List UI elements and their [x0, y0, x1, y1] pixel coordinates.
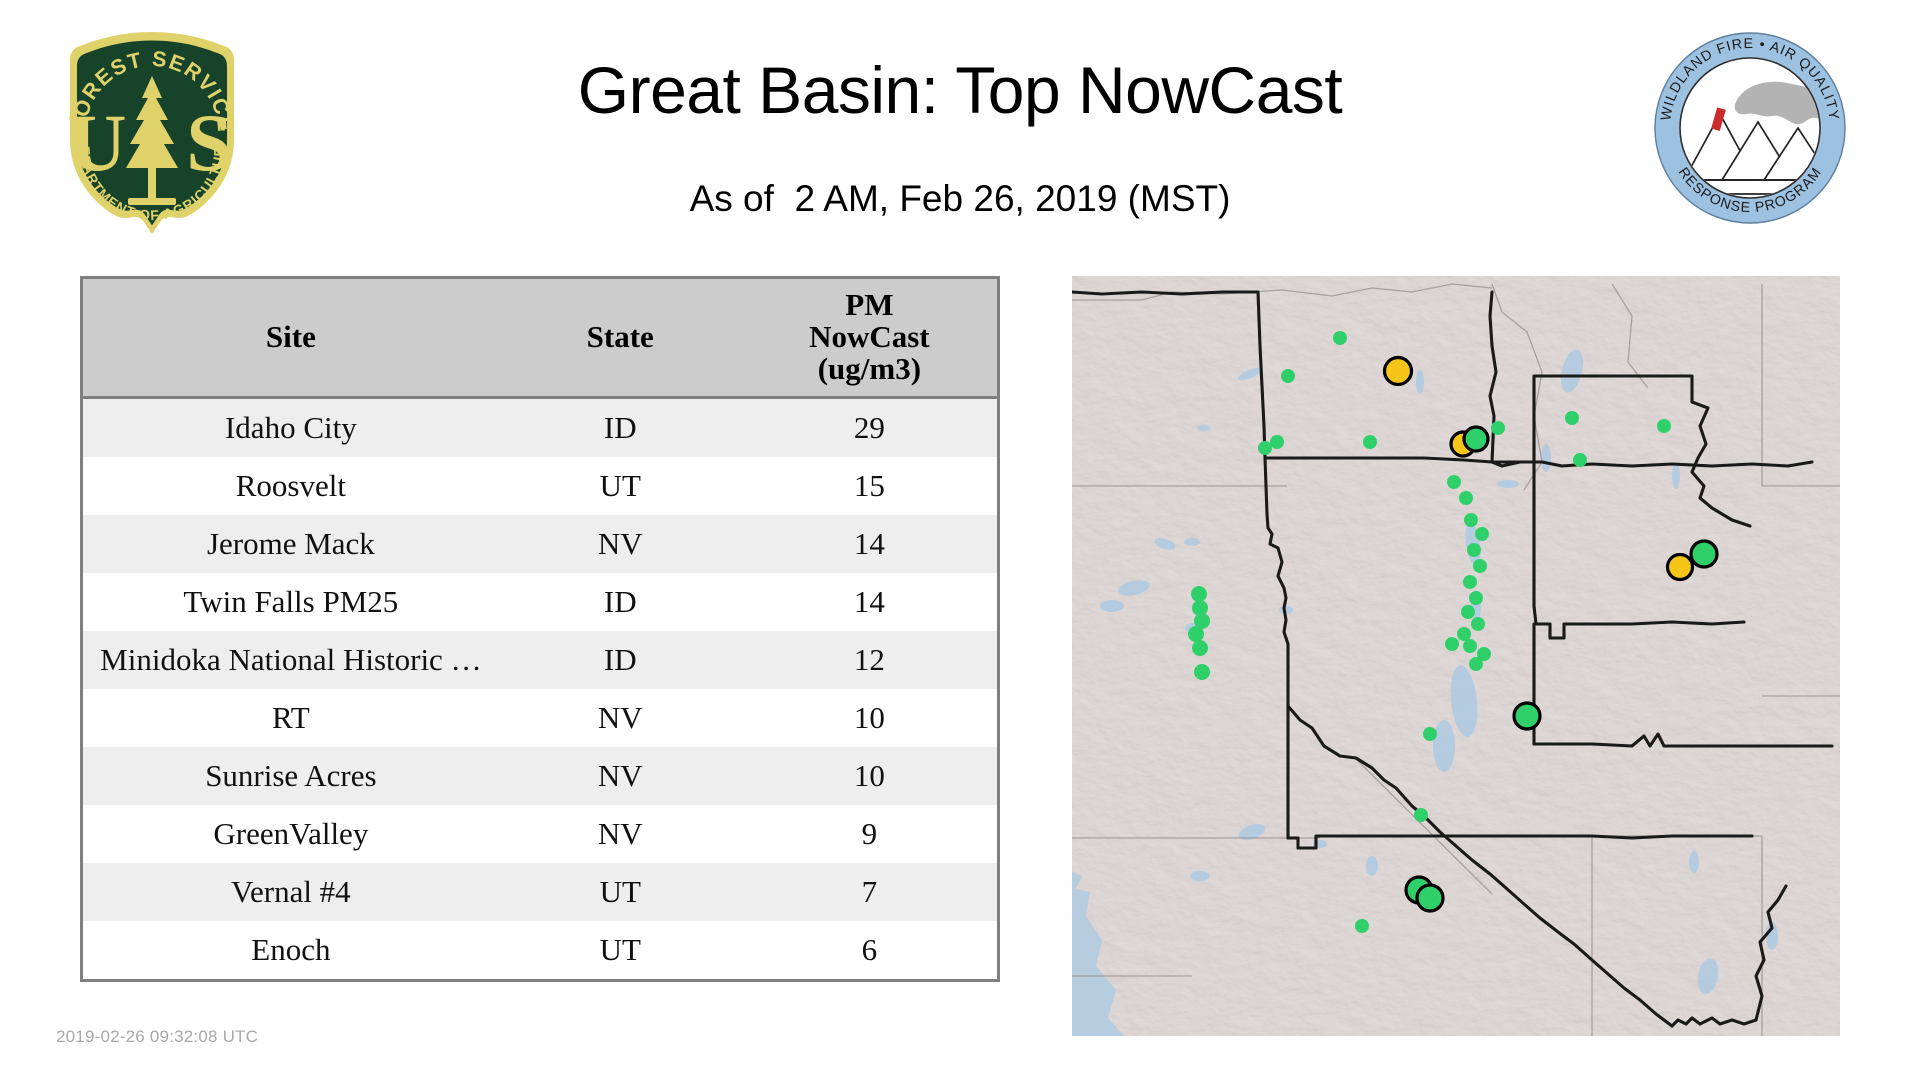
wfaqrp-circular-logo: WILDLAND FIRE • AIR QUALITY RESPONSE PRO…: [1652, 30, 1848, 226]
table-row[interactable]: Sunrise Acres NV 10: [82, 747, 999, 805]
cell-value: 6: [742, 921, 999, 981]
cell-site: Sunrise Acres: [82, 747, 499, 805]
cell-site: Enoch: [82, 921, 499, 981]
page-subtitle: As of 2 AM, Feb 26, 2019 (MST): [300, 178, 1620, 220]
map-marker-small[interactable]: [1459, 491, 1473, 505]
table-header-row: Site State PM NowCast (ug/m3): [82, 278, 999, 398]
table-body: Idaho City ID 29 Roosvelt UT 15 Jerome M…: [82, 397, 999, 980]
table-row[interactable]: GreenValley NV 9: [82, 805, 999, 863]
map-marker-small[interactable]: [1423, 727, 1437, 741]
cell-state: NV: [499, 689, 742, 747]
cell-state: NV: [499, 747, 742, 805]
table-row[interactable]: Enoch UT 6: [82, 921, 999, 981]
cell-state: ID: [499, 397, 742, 457]
map-marker-large-moderate[interactable]: [1385, 358, 1412, 385]
column-header-site[interactable]: Site: [82, 278, 499, 398]
cell-value: 29: [742, 397, 999, 457]
map-marker-small[interactable]: [1475, 527, 1489, 541]
column-header-pm-nowcast-line2: NowCast: [746, 321, 993, 353]
cell-state: ID: [499, 631, 742, 689]
map-marker-small[interactable]: [1463, 639, 1477, 653]
map-marker-small[interactable]: [1355, 919, 1369, 933]
map-marker-small[interactable]: [1473, 559, 1487, 573]
map-marker-small[interactable]: [1363, 435, 1377, 449]
cell-value: 7: [742, 863, 999, 921]
cell-site: Vernal #4: [82, 863, 499, 921]
column-header-pm-nowcast[interactable]: PM NowCast (ug/m3): [742, 278, 999, 398]
cell-state: UT: [499, 863, 742, 921]
cell-site: Minidoka National Historic …: [82, 631, 499, 689]
map-marker-small[interactable]: [1463, 575, 1477, 589]
map-marker-large-good[interactable]: [1514, 703, 1540, 729]
cell-value: 15: [742, 457, 999, 515]
map-marker-small[interactable]: [1457, 627, 1471, 641]
table-row[interactable]: Twin Falls PM25 ID 14: [82, 573, 999, 631]
map-marker-small[interactable]: [1333, 331, 1347, 345]
map-marker-small[interactable]: [1471, 617, 1485, 631]
cell-site: Idaho City: [82, 397, 499, 457]
map-marker-small[interactable]: [1192, 640, 1208, 656]
top-nowcast-table: Site State PM NowCast (ug/m3) Idaho City…: [80, 276, 1000, 982]
map-marker-small[interactable]: [1191, 586, 1207, 602]
map-marker-large-good[interactable]: [1691, 541, 1717, 567]
table-header: Site State PM NowCast (ug/m3): [82, 278, 999, 398]
map-marker-small[interactable]: [1657, 419, 1671, 433]
map-marker-small[interactable]: [1464, 513, 1478, 527]
footer-timestamp: 2019-02-26 09:32:08 UTC: [56, 1027, 258, 1047]
table-row[interactable]: Jerome Mack NV 14: [82, 515, 999, 573]
column-header-pm-nowcast-line1: PM: [746, 289, 993, 321]
cell-value: 10: [742, 747, 999, 805]
map-marker-large-good[interactable]: [1417, 885, 1443, 911]
cell-value: 12: [742, 631, 999, 689]
table-row[interactable]: RT NV 10: [82, 689, 999, 747]
cell-site: Twin Falls PM25: [82, 573, 499, 631]
map-marker-small[interactable]: [1447, 475, 1461, 489]
map-marker-small[interactable]: [1469, 591, 1483, 605]
cell-site: Jerome Mack: [82, 515, 499, 573]
map-marker-small[interactable]: [1467, 543, 1481, 557]
cell-site: Roosvelt: [82, 457, 499, 515]
map-marker-small[interactable]: [1414, 808, 1428, 822]
cell-site: GreenValley: [82, 805, 499, 863]
map-marker-small[interactable]: [1194, 664, 1210, 680]
map-marker-small[interactable]: [1469, 657, 1483, 671]
cell-site: RT: [82, 689, 499, 747]
map-marker-small[interactable]: [1565, 411, 1579, 425]
cell-state: UT: [499, 457, 742, 515]
table-row[interactable]: Minidoka National Historic … ID 12: [82, 631, 999, 689]
cell-state: NV: [499, 805, 742, 863]
usfs-shield-logo: FOREST SERVICE U S DEPARTMENT OF AGRICUL…: [52, 28, 252, 236]
map-marker-large-moderate[interactable]: [1668, 555, 1693, 580]
cell-state: NV: [499, 515, 742, 573]
cell-state: UT: [499, 921, 742, 981]
map-marker-small[interactable]: [1573, 453, 1587, 467]
cell-value: 14: [742, 515, 999, 573]
cell-value: 10: [742, 689, 999, 747]
table-row[interactable]: Vernal #4 UT 7: [82, 863, 999, 921]
map-marker-small[interactable]: [1188, 626, 1204, 642]
map-relief-shading-fine: [1072, 276, 1840, 1036]
cell-value: 14: [742, 573, 999, 631]
map-marker-small[interactable]: [1461, 605, 1475, 619]
map-marker-small[interactable]: [1281, 369, 1295, 383]
table-row[interactable]: Idaho City ID 29: [82, 397, 999, 457]
map-marker-small[interactable]: [1258, 441, 1272, 455]
great-basin-monitor-map[interactable]: [1072, 276, 1840, 1036]
top-nowcast-table-container: Site State PM NowCast (ug/m3) Idaho City…: [80, 276, 1000, 982]
map-marker-small[interactable]: [1445, 637, 1459, 651]
cell-state: ID: [499, 573, 742, 631]
column-header-state[interactable]: State: [499, 278, 742, 398]
column-header-pm-nowcast-line3: (ug/m3): [746, 353, 993, 385]
cell-value: 9: [742, 805, 999, 863]
page-title: Great Basin: Top NowCast: [300, 52, 1620, 128]
map-marker-small[interactable]: [1270, 435, 1284, 449]
map-marker-small[interactable]: [1491, 421, 1505, 435]
table-row[interactable]: Roosvelt UT 15: [82, 457, 999, 515]
map-marker-large-good[interactable]: [1464, 427, 1488, 451]
